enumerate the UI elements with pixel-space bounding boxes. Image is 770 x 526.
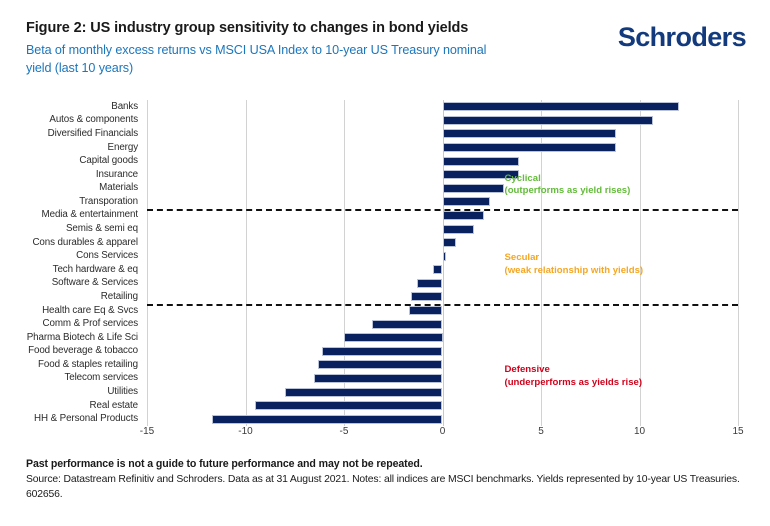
bar bbox=[344, 333, 443, 342]
x-tick-label: 0 bbox=[440, 426, 446, 437]
page-title: Figure 2: US industry group sensitivity … bbox=[26, 20, 468, 36]
category-label: Food & staples retailing bbox=[38, 359, 138, 370]
bar bbox=[443, 252, 447, 261]
x-tick-label: 5 bbox=[538, 426, 544, 437]
bar bbox=[212, 415, 442, 424]
category-label: Capital goods bbox=[79, 155, 138, 166]
figure-header: Figure 2: US industry group sensitivity … bbox=[0, 0, 770, 90]
bar bbox=[433, 265, 443, 274]
category-label: Banks bbox=[111, 101, 138, 112]
bar bbox=[443, 129, 616, 138]
category-label: Autos & components bbox=[49, 114, 138, 125]
category-label: Cons Services bbox=[76, 250, 138, 261]
source-note: Source: Datastream Refinitiv and Schrode… bbox=[26, 472, 746, 502]
gridline--10 bbox=[246, 100, 247, 426]
annotation-detail: (outperforms as yield rises) bbox=[505, 185, 631, 198]
category-label: Telecom services bbox=[64, 372, 138, 383]
category-label: Cons durables & apparel bbox=[32, 237, 138, 248]
category-label: Media & entertainment bbox=[42, 209, 138, 220]
bar bbox=[255, 401, 442, 410]
category-label: Diversified Financials bbox=[48, 128, 138, 139]
x-tick-label: -10 bbox=[238, 426, 252, 437]
bar bbox=[322, 347, 442, 356]
category-label: Comm & Prof services bbox=[43, 318, 138, 329]
category-label: Software & Services bbox=[52, 277, 138, 288]
bar bbox=[443, 225, 475, 234]
x-tick-label: -15 bbox=[140, 426, 154, 437]
bar bbox=[417, 279, 443, 288]
annotation-cyclical: Cyclical(outperforms as yield rises) bbox=[505, 173, 631, 198]
category-label: Materials bbox=[99, 182, 138, 193]
annotation-title: Defensive bbox=[505, 364, 550, 375]
figure-subtitle: Beta of monthly excess returns vs MSCI U… bbox=[26, 41, 496, 77]
annotation-detail: (underperforms as yields rise) bbox=[505, 377, 643, 390]
bar bbox=[443, 184, 504, 193]
disclaimer-text: Past performance is not a guide to futur… bbox=[26, 458, 746, 470]
schroders-logo: Schroders bbox=[618, 22, 746, 53]
annotation-detail: (weak relationship with yields) bbox=[505, 265, 644, 278]
gridline--15 bbox=[147, 100, 148, 426]
bar bbox=[285, 388, 443, 397]
bar bbox=[372, 320, 443, 329]
category-label: Retailing bbox=[101, 291, 138, 302]
bar bbox=[443, 102, 679, 111]
bar bbox=[443, 197, 490, 206]
category-label: Semis & semi eq bbox=[66, 223, 138, 234]
plot-area: Cyclical(outperforms as yield rises)Secu… bbox=[147, 100, 738, 426]
category-label: Real estate bbox=[90, 400, 138, 411]
category-label: Pharma Biotech & Life Sci bbox=[27, 332, 138, 343]
bar bbox=[443, 211, 484, 220]
x-tick-label: 15 bbox=[732, 426, 743, 437]
cyclical-secular-divider bbox=[147, 209, 738, 211]
category-label: Transporation bbox=[79, 196, 138, 207]
secular-defensive-divider bbox=[147, 304, 738, 306]
bar bbox=[443, 116, 654, 125]
annotation-secular: Secular(weak relationship with yields) bbox=[505, 252, 644, 277]
category-label: HH & Personal Products bbox=[34, 413, 138, 424]
category-label: Insurance bbox=[96, 169, 138, 180]
bar bbox=[411, 292, 443, 301]
category-label: Tech hardware & eq bbox=[53, 264, 138, 275]
annotation-title: Secular bbox=[505, 252, 540, 263]
annotation-defensive: Defensive(underperforms as yields rise) bbox=[505, 364, 643, 389]
bar bbox=[409, 306, 442, 315]
bar-chart: Cyclical(outperforms as yield rises)Secu… bbox=[0, 92, 770, 447]
x-tick-label: -5 bbox=[340, 426, 349, 437]
annotation-title: Cyclical bbox=[505, 173, 541, 184]
bar bbox=[314, 374, 442, 383]
category-label: Food beverage & tobacco bbox=[28, 345, 138, 356]
gridline-15 bbox=[738, 100, 739, 426]
bar bbox=[443, 157, 520, 166]
bar bbox=[443, 143, 616, 152]
category-label: Health care Eq & Svcs bbox=[42, 305, 138, 316]
x-tick-label: 10 bbox=[634, 426, 645, 437]
bar bbox=[443, 238, 457, 247]
bar bbox=[318, 360, 442, 369]
category-label: Utilities bbox=[107, 386, 138, 397]
category-label: Energy bbox=[108, 142, 138, 153]
figure-footer: Past performance is not a guide to futur… bbox=[26, 458, 746, 502]
